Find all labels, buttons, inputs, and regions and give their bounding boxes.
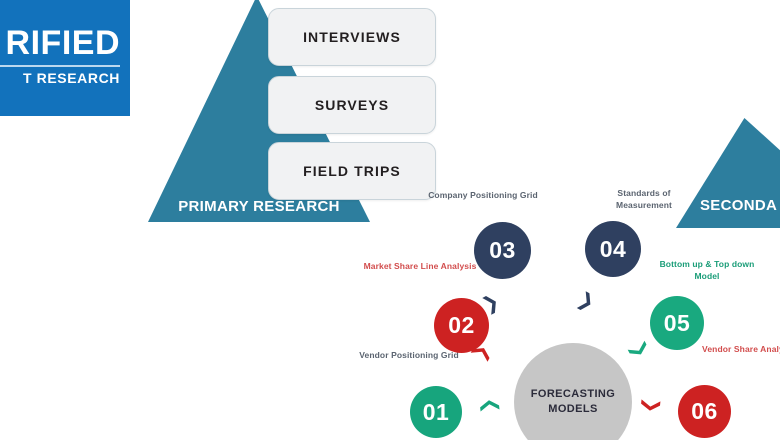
brand-logo: RIFIED T RESEARCH: [0, 0, 130, 116]
step-node-04[interactable]: 04: [585, 221, 641, 277]
step-node-number: 03: [489, 237, 516, 264]
step-node-05[interactable]: 05: [650, 296, 704, 350]
step-node-03[interactable]: 03: [474, 222, 531, 279]
secondary-research-label: SECONDA: [700, 197, 777, 214]
hub-label-line1: FORECASTING: [531, 387, 615, 402]
method-card-label: INTERVIEWS: [303, 29, 401, 45]
primary-research-label: PRIMARY RESEARCH: [148, 198, 370, 215]
method-card-label: SURVEYS: [315, 97, 389, 113]
step-node-01[interactable]: 01: [410, 386, 462, 438]
chevron-arrow-icon: ❯: [479, 397, 500, 415]
step-node-number: 04: [600, 236, 627, 263]
step-node-number: 05: [664, 310, 691, 337]
node-caption-04: Standards of Measurement: [589, 188, 699, 211]
hub-label-line2: MODELS: [548, 402, 597, 417]
step-node-number: 02: [448, 312, 475, 339]
method-card-field-trips[interactable]: FIELD TRIPS: [268, 142, 436, 200]
node-caption-03: Company Positioning Grid: [423, 190, 543, 202]
step-node-number: 01: [423, 399, 450, 426]
chevron-arrow-icon: ❯: [641, 397, 662, 415]
logo-divider: [0, 65, 120, 67]
method-card-interviews[interactable]: INTERVIEWS: [268, 8, 436, 66]
method-card-surveys[interactable]: SURVEYS: [268, 76, 436, 134]
logo-primary-text: RIFIED: [6, 26, 120, 60]
method-card-label: FIELD TRIPS: [303, 163, 401, 179]
node-caption-06: Vendor Share Analysis: [694, 344, 780, 356]
forecasting-models-hub: FORECASTING MODELS: [514, 343, 632, 440]
logo-secondary-text: T RESEARCH: [23, 71, 120, 85]
infographic-canvas: RIFIED T RESEARCH PRIMARY RESEARCH SECON…: [0, 0, 780, 440]
step-node-06[interactable]: 06: [678, 385, 731, 438]
node-caption-05: Bottom up & Top down Model: [648, 259, 766, 282]
node-caption-02: Market Share Line Analysis: [360, 261, 480, 273]
chevron-arrow-icon: ❯: [627, 338, 651, 361]
chevron-arrow-icon: ❯: [574, 289, 597, 313]
step-node-number: 06: [691, 398, 718, 425]
